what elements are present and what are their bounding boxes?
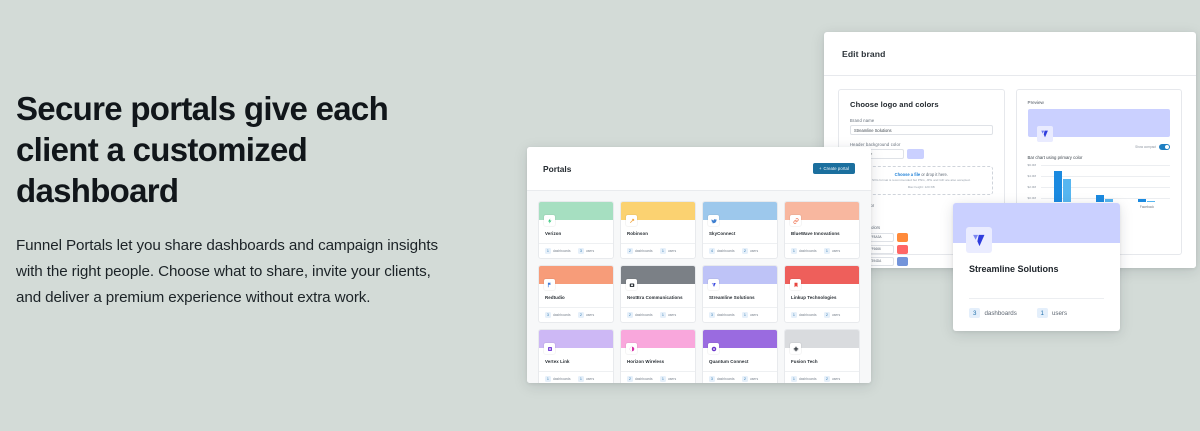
users-label: users [586, 377, 594, 381]
portal-card-header [539, 266, 613, 284]
bar [1138, 199, 1146, 202]
portals-window: Portals + Create portal Verizon1dashboar… [527, 147, 871, 383]
dashboards-count: 1 [545, 376, 551, 382]
create-portal-label: Create portal [823, 166, 849, 171]
portal-card-grid: Verizon1dashboards3usersRobinson2dashboa… [538, 201, 860, 383]
users-count: 1 [742, 312, 748, 318]
brand-name-input[interactable]: Streamline Solutions [850, 125, 993, 135]
users-label: users [668, 377, 676, 381]
portal-card[interactable]: Robinson2dashboards1users [620, 201, 696, 259]
portal-card-metrics: 3dashboards2users [703, 371, 777, 383]
dashboards-metric: 2dashboards [627, 376, 656, 382]
users-count: 1 [1037, 308, 1048, 318]
users-label: users [750, 377, 758, 381]
brand-logo-icon [1037, 126, 1053, 142]
users-label: users [668, 313, 676, 317]
portal-card[interactable]: Streamline Solutions3dashboards1users [702, 265, 778, 323]
portal-card-header [703, 266, 777, 284]
portal-card-header [785, 202, 859, 220]
dashboards-count: 3 [709, 312, 715, 318]
dashboards-metric: 1dashboards [545, 248, 574, 254]
bar [1147, 201, 1155, 202]
dashboards-metric: 1dashboards [791, 248, 820, 254]
wave-icon [708, 279, 719, 290]
bookmark-icon [790, 279, 801, 290]
chart-bars [1042, 165, 1169, 202]
dashboards-count: 3 [969, 308, 980, 318]
portal-card-header [703, 330, 777, 348]
users-label: users [832, 377, 840, 381]
portal-card[interactable]: Vertex Link1dashboards1users [538, 329, 614, 383]
portal-card-metrics: 2dashboards1users [621, 243, 695, 258]
portals-title: Portals [543, 164, 571, 174]
plus-icon: + [819, 166, 822, 171]
dashboards-label: dashboards [635, 313, 653, 317]
camera-icon [626, 279, 637, 290]
users-count: 1 [660, 312, 666, 318]
contrast-icon [626, 343, 637, 354]
bar-group [1042, 165, 1084, 202]
dropzone-hint-2: Max height: 120 KB [855, 185, 988, 189]
portal-card-header [621, 330, 695, 348]
compact-toggle[interactable] [1159, 144, 1170, 150]
plus-circle-icon [708, 343, 719, 354]
dashboards-label: dashboards [553, 377, 571, 381]
portal-card[interactable]: Redtudio3dashboards2users [538, 265, 614, 323]
dashboards-count: 3 [709, 376, 715, 382]
streamline-card-metrics: 3 dashboards 1 users [969, 298, 1104, 318]
portal-card-header [539, 202, 613, 220]
users-label: users [586, 313, 594, 317]
streamline-logo-icon [966, 227, 992, 253]
arrow-icon [626, 215, 637, 226]
dashboards-metric: 3 dashboards [969, 308, 1037, 318]
dashboards-metric: 1dashboards [791, 376, 820, 382]
preview-banner [1028, 109, 1171, 137]
users-count: 1 [578, 376, 584, 382]
users-count: 2 [742, 376, 748, 382]
page-root: Secure portals give each client a custom… [0, 0, 1200, 431]
y-axis-tick: $4.0M [1028, 174, 1037, 178]
dashboards-label: dashboards [799, 377, 817, 381]
portal-card-metrics: 1dashboards2users [785, 307, 859, 322]
dashboards-metric: 2dashboards [627, 248, 656, 254]
streamline-banner [953, 203, 1120, 243]
chart-title: Bar chart using primary color [1028, 155, 1171, 160]
users-label: users [832, 313, 840, 317]
dashboards-metric: 3dashboards [709, 376, 738, 382]
users-metric: 1users [660, 248, 689, 254]
users-label: users [586, 249, 594, 253]
dashboards-label: dashboards [799, 313, 817, 317]
flag-icon [544, 279, 555, 290]
y-axis-tick: $0.0M [1028, 196, 1037, 200]
dashboards-count: 2 [627, 248, 633, 254]
portal-card-header [785, 266, 859, 284]
edit-brand-titlebar: Edit brand [824, 32, 1196, 76]
users-metric: 2users [742, 248, 771, 254]
dashboards-count: 4 [709, 248, 715, 254]
users-metric: 1users [660, 312, 689, 318]
bar [1096, 195, 1104, 202]
users-label: users [832, 249, 840, 253]
dashboards-count: 2 [627, 376, 633, 382]
choose-file-link[interactable]: Choose a file [895, 172, 920, 177]
portal-card-metrics: 1dashboards1users [539, 371, 613, 383]
users-count: 2 [824, 376, 830, 382]
portal-card-metrics: 2dashboards1users [621, 371, 695, 383]
portal-card[interactable]: Horizon Wireless2dashboards1users [620, 329, 696, 383]
dropzone-hint: SVG format is recommended but PNG, JPG a… [855, 178, 988, 182]
link-icon [790, 215, 801, 226]
dashboards-label: dashboards [553, 249, 571, 253]
portal-card-metrics: 4dashboards2users [703, 243, 777, 258]
dashboards-label: dashboards [553, 313, 571, 317]
dashboards-metric: 3dashboards [709, 312, 738, 318]
dashboards-metric: 3dashboards [545, 312, 574, 318]
x-axis-tick: Facebook [1126, 205, 1168, 209]
palette-row: #FF6666 [865, 245, 908, 254]
users-metric: 1users [824, 248, 853, 254]
users-count: 2 [824, 312, 830, 318]
users-count: 1 [824, 248, 830, 254]
portal-card-metrics: 1dashboards3users [539, 243, 613, 258]
compact-toggle-label: Show compact [1135, 145, 1156, 149]
users-metric: 2users [578, 312, 607, 318]
bolt-icon [544, 215, 555, 226]
users-count: 1 [660, 376, 666, 382]
dashboards-metric: 4dashboards [709, 248, 738, 254]
users-metric: 3users [578, 248, 607, 254]
header-color-row: #CAD0FF [850, 149, 993, 159]
users-metric: 2users [824, 312, 853, 318]
portal-card[interactable]: SkyConnect4dashboards2users [702, 201, 778, 259]
users-metric: 1users [578, 376, 607, 382]
bar-group [1084, 165, 1126, 202]
dashboards-label: dashboards [984, 310, 1016, 317]
users-metric: 1 users [1037, 308, 1105, 318]
users-metric: 1users [660, 376, 689, 382]
palette-swatch[interactable] [897, 257, 908, 266]
header-color-swatch[interactable] [907, 149, 924, 159]
dropzone-rest-text: or drop it here. [920, 172, 948, 177]
header-color-label: Header background color [850, 142, 993, 147]
users-metric: 2users [742, 376, 771, 382]
users-label: users [750, 249, 758, 253]
portal-card-metrics: 3dashboards2users [539, 307, 613, 322]
square-icon [544, 343, 555, 354]
portal-card-header [621, 202, 695, 220]
portals-body: Verizon1dashboards3usersRobinson2dashboa… [527, 191, 871, 383]
bird-icon [708, 215, 719, 226]
bar [1054, 171, 1062, 202]
hero-body-text: Funnel Portals let you share dashboards … [16, 233, 446, 311]
users-metric: 1users [742, 312, 771, 318]
y-axis-tick: $2.0M [1028, 185, 1037, 189]
bar [1063, 179, 1071, 202]
dashboards-count: 1 [791, 376, 797, 382]
brand-name-label: Brand name [850, 118, 993, 123]
bar-group [1126, 165, 1168, 202]
palette-row: #FF8A3A [865, 233, 908, 242]
dashboards-metric: 1dashboards [791, 312, 820, 318]
users-count: 3 [578, 248, 584, 254]
dropzone-main-text: Choose a file or drop it here. [855, 172, 988, 177]
preview-label: Preview [1028, 100, 1171, 105]
bar [1105, 199, 1113, 202]
dashboards-label: dashboards [635, 249, 653, 253]
users-label: users [668, 249, 676, 253]
portal-card-header [621, 266, 695, 284]
streamline-solutions-card[interactable]: Streamline Solutions 3 dashboards 1 user… [953, 203, 1120, 331]
page-title: Secure portals give each client a custom… [16, 88, 446, 211]
portal-card[interactable]: Fusion Tech1dashboards2users [784, 329, 860, 383]
users-metric: 2users [824, 376, 853, 382]
palette-column-right: #FF8A3A #FF6666 #7394DA #F5D42F [865, 233, 908, 268]
dashboards-count: 3 [545, 312, 551, 318]
section-heading: Choose logo and colors [850, 100, 993, 109]
portal-card-header [703, 202, 777, 220]
portal-card-metrics: 1dashboards2users [785, 371, 859, 383]
users-count: 2 [578, 312, 584, 318]
dashboards-label: dashboards [799, 249, 817, 253]
palette-row: #7394DA [865, 257, 908, 266]
portals-titlebar: Portals + Create portal [527, 147, 871, 191]
users-count: 1 [660, 248, 666, 254]
compact-toggle-row: Show compact [1028, 144, 1171, 150]
logo-dropzone[interactable]: Choose a file or drop it here. SVG forma… [850, 166, 993, 195]
dashboards-count: 1 [545, 248, 551, 254]
dashboards-label: dashboards [635, 377, 653, 381]
portal-card-header [785, 330, 859, 348]
dashboards-metric: 1dashboards [545, 376, 574, 382]
portal-card[interactable]: Verizon1dashboards3users [538, 201, 614, 259]
dashboards-count: 1 [791, 248, 797, 254]
edit-brand-title: Edit brand [842, 49, 886, 59]
create-portal-button[interactable]: + Create portal [813, 163, 855, 175]
portal-card[interactable]: BlueWave Innovations1dashboards1users [784, 201, 860, 259]
dashboards-count: 2 [627, 312, 633, 318]
dashboards-label: dashboards [717, 249, 735, 253]
palette-swatch[interactable] [897, 245, 908, 254]
dashboards-label: dashboards [717, 377, 735, 381]
portal-card-header [539, 330, 613, 348]
users-count: 2 [742, 248, 748, 254]
hero-copy: Secure portals give each client a custom… [16, 88, 446, 311]
dashboards-count: 1 [791, 312, 797, 318]
portal-card-metrics: 3dashboards1users [703, 307, 777, 322]
portal-card-metrics: 1dashboards1users [785, 243, 859, 258]
y-axis-tick: $6.0M [1028, 163, 1037, 167]
dashboards-label: dashboards [717, 313, 735, 317]
users-label: users [1052, 310, 1067, 317]
users-label: users [750, 313, 758, 317]
portal-card[interactable]: Quantum Connect3dashboards2users [702, 329, 778, 383]
portal-card[interactable]: Linkup Technologies1dashboards2users [784, 265, 860, 323]
portal-card-metrics: 2dashboards1users [621, 307, 695, 322]
portal-card[interactable]: NextEra Communications2dashboards1users [620, 265, 696, 323]
dashboards-metric: 2dashboards [627, 312, 656, 318]
palette-swatch[interactable] [897, 233, 908, 242]
grid-icon [790, 343, 801, 354]
